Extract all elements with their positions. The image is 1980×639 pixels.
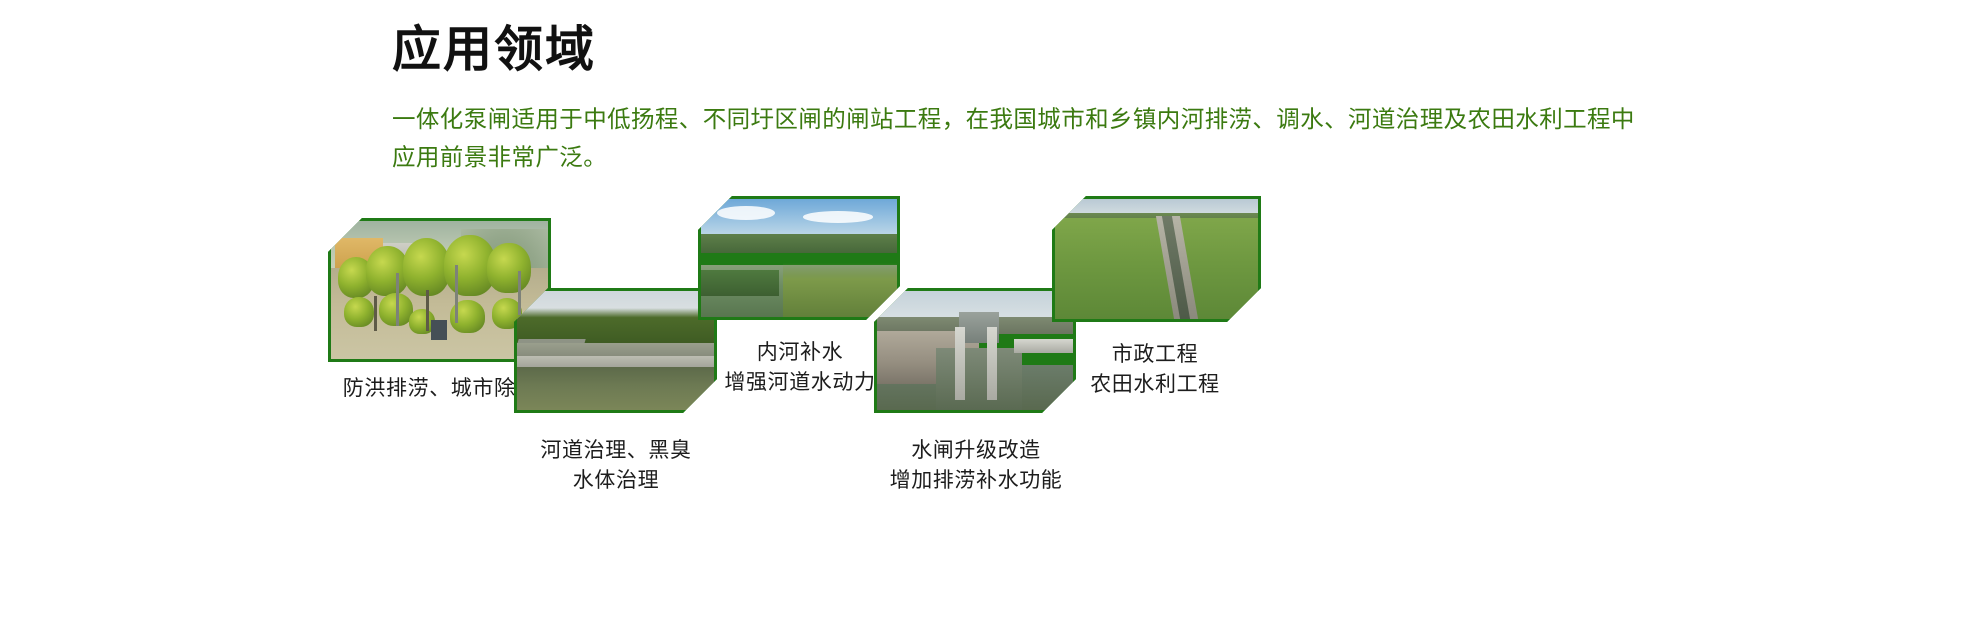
photo-inner-river — [701, 199, 897, 317]
caption-municipal-farmland: 市政工程 农田水利工程 — [1040, 340, 1270, 400]
gallery-card-inner-river[interactable]: 内河补水 增强河道水动力 — [698, 196, 900, 320]
gallery-card-municipal-farmland[interactable]: 市政工程 农田水利工程 — [1052, 196, 1261, 322]
photo-municipal-farmland — [1055, 199, 1258, 319]
application-gallery: 防洪排涝、城市除涝 河道治理、黑臭 水体治理 — [0, 0, 1980, 639]
caption-river-treatment: 河道治理、黑臭 水体治理 — [502, 436, 730, 496]
caption-sluice-upgrade: 水闸升级改造 增加排涝补水功能 — [858, 436, 1094, 496]
photo-frame-inner-river[interactable] — [698, 196, 900, 320]
application-fields-section: 应用领域 一体化泵闸适用于中低扬程、不同圩区闸的闸站工程，在我国城市和乡镇内河排… — [0, 0, 1980, 639]
photo-river-treatment — [517, 291, 714, 410]
gallery-card-river-treatment[interactable]: 河道治理、黑臭 水体治理 — [514, 288, 717, 413]
photo-frame-river-treatment[interactable] — [514, 288, 717, 413]
photo-frame-municipal-farmland[interactable] — [1052, 196, 1261, 322]
